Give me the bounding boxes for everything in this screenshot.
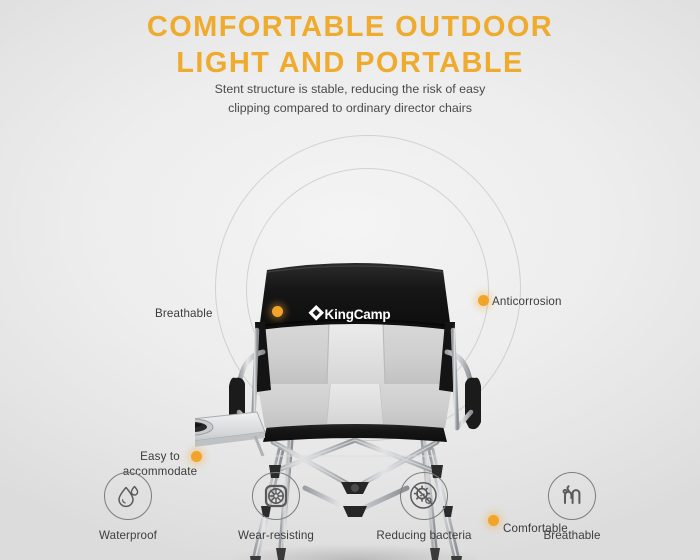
feature-breathable: Breathable xyxy=(514,472,630,542)
page-subtitle: Stent structure is stable, reducing the … xyxy=(0,80,700,118)
feature-waterproof: Waterproof xyxy=(70,472,186,542)
feature-wear-resisting: Wear-resisting xyxy=(218,472,334,542)
feature-badge-row: Waterproof xyxy=(0,472,700,560)
water-drop-icon xyxy=(114,482,142,510)
callout-anticorrosion-label: Anticorrosion xyxy=(492,295,562,310)
orange-dot-icon xyxy=(272,306,283,317)
feature-icon-circle xyxy=(548,472,596,520)
feature-waterproof-label: Waterproof xyxy=(70,529,186,542)
feature-reducing-bacteria: Reducing bacteria xyxy=(366,472,482,542)
feature-icon-circle xyxy=(252,472,300,520)
feature-wear-resisting-label: Wear-resisting xyxy=(218,529,334,542)
product-feature-graphic: Comfortable Outdoor Light and Portable S… xyxy=(0,0,700,560)
airflow-icon xyxy=(558,482,586,510)
feature-breathable-label: Breathable xyxy=(514,529,630,542)
product-stage: KingCamp Breathable Anticorrosion Easy t… xyxy=(0,120,700,470)
orange-dot-icon xyxy=(478,295,489,306)
no-bacteria-icon xyxy=(410,482,438,510)
page-title: Comfortable Outdoor Light and Portable xyxy=(0,10,700,81)
feature-icon-circle xyxy=(400,472,448,520)
feature-reducing-bacteria-label: Reducing bacteria xyxy=(366,529,482,542)
tire-tread-icon xyxy=(262,482,290,510)
orange-dot-icon xyxy=(191,451,202,462)
callout-breathable-label: Breathable xyxy=(155,307,213,322)
feature-icon-circle xyxy=(104,472,152,520)
